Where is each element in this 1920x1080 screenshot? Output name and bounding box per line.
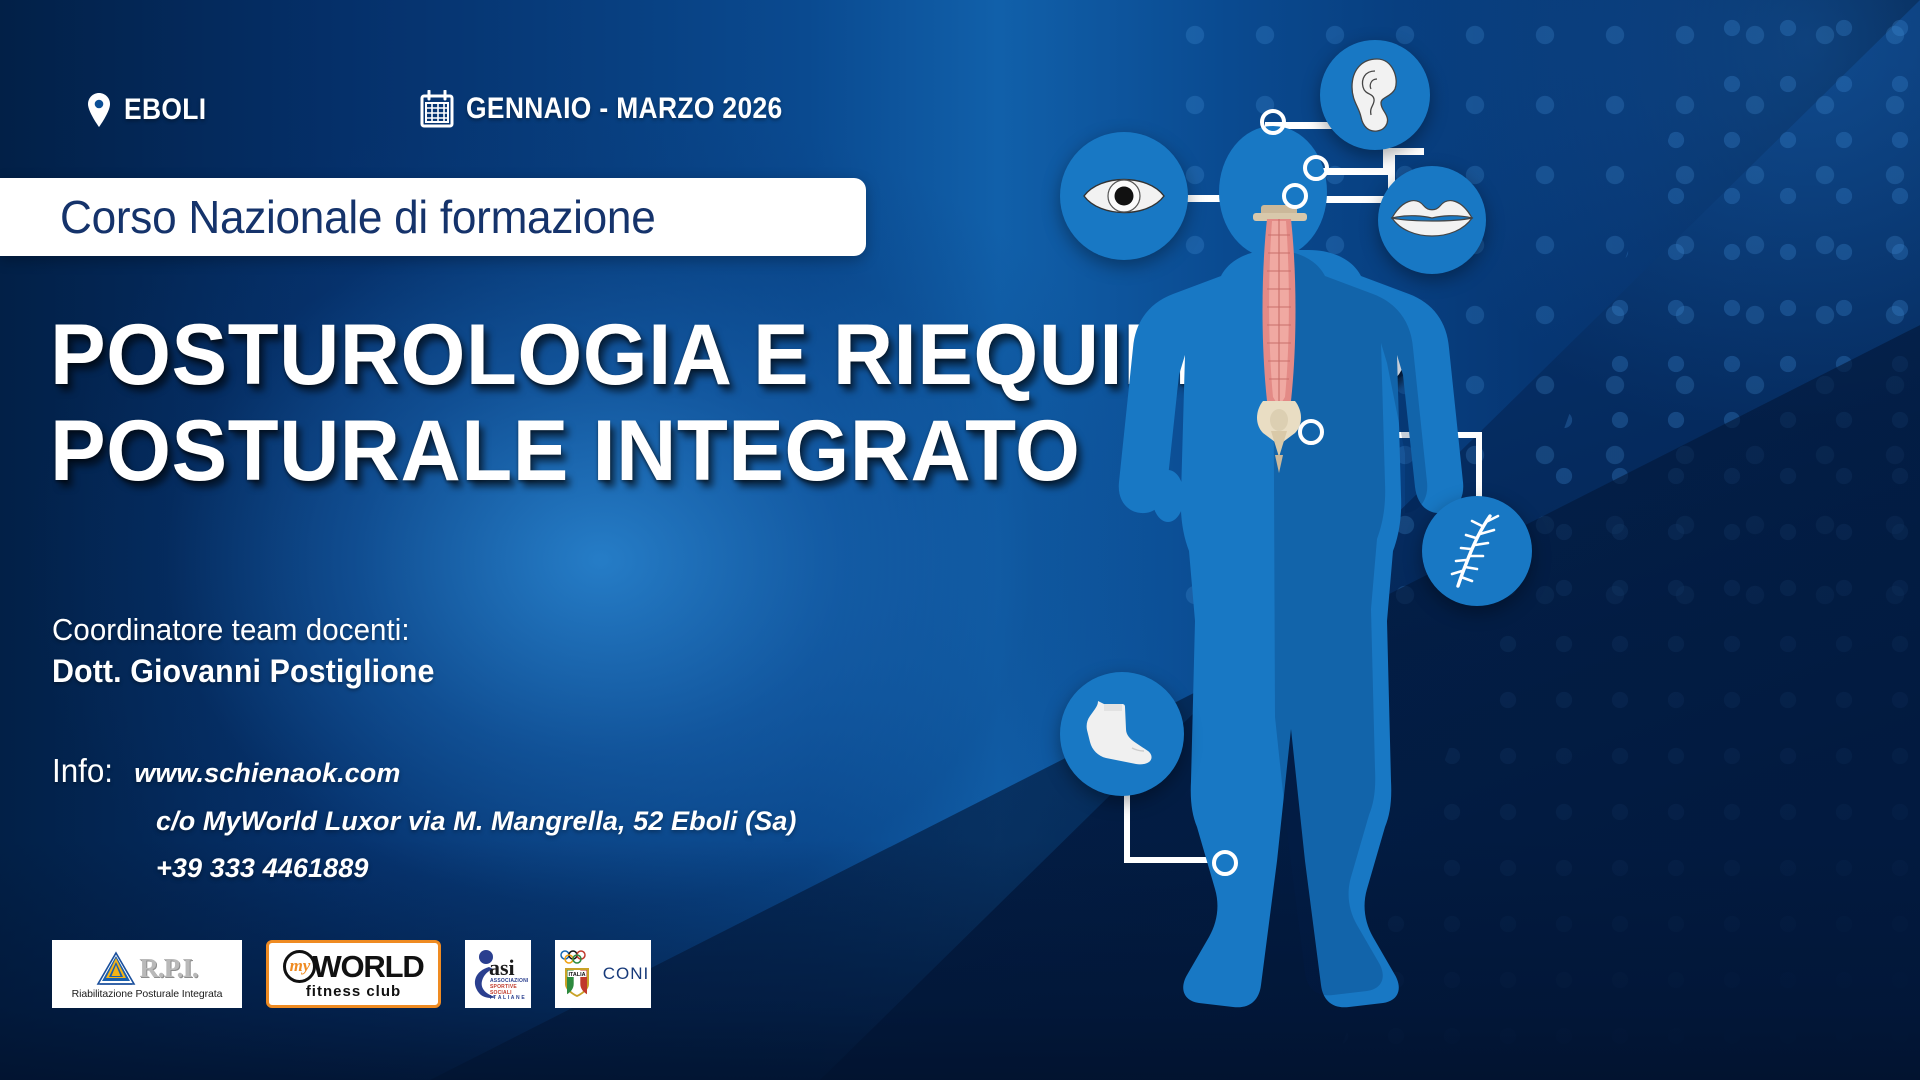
ear-icon — [1347, 57, 1403, 133]
info-label: Info: — [52, 752, 113, 790]
myworld-tagline: fitness club — [306, 984, 401, 999]
info-block: Info: www.schienaok.com c/o MyWorld Luxo… — [52, 752, 797, 884]
asi-subtext: ASSOCIAZIONI SPORTIVE SOCIALI I T A L I … — [490, 979, 526, 1002]
ear-node — [1303, 155, 1329, 181]
info-address: c/o MyWorld Luxor via M. Mangrella, 52 E… — [156, 806, 797, 836]
coordinator-block: Coordinatore team docenti: Dott. Giovann… — [52, 612, 455, 690]
ear-callout[interactable] — [1320, 40, 1430, 150]
info-website[interactable]: www.schienaok.com — [134, 758, 400, 789]
olympic-rings-icon — [557, 950, 597, 964]
eye-icon — [1080, 168, 1168, 224]
info-phone[interactable]: +39 333 4461889 — [156, 853, 368, 883]
rpi-mark: R.P.I. — [58, 949, 236, 989]
location-text: EBOLI — [124, 93, 206, 127]
rpi-caption: Riabilitazione Posturale Integrata — [72, 989, 223, 1000]
location-group: EBOLI — [86, 92, 218, 128]
mouth-callout[interactable] — [1378, 166, 1486, 274]
foot-node — [1212, 850, 1238, 876]
title-line-1: POSTUROLOGIA E RIEQUILIBRIO — [50, 312, 1136, 400]
myworld-my: my — [283, 950, 316, 983]
spine-node — [1298, 419, 1324, 445]
asi-text: asi — [489, 957, 515, 979]
info-address-row: c/o MyWorld Luxor via M. Mangrella, 52 E… — [156, 806, 797, 837]
info-website-row: Info: www.schienaok.com — [52, 752, 797, 790]
poster-header: EBOLI GENNAIO - MARZO 2026 — [0, 44, 1100, 114]
coni-logo: ITALIA CONI — [555, 940, 651, 1008]
coordinator-label: Coordinatore team docenti: — [52, 612, 434, 648]
spine-callout[interactable] — [1422, 496, 1532, 606]
myworld-wordmark: my WORLD — [283, 950, 423, 983]
mouth-icon — [1390, 194, 1474, 246]
spine-icon — [1446, 512, 1508, 590]
myworld-world: WORLD — [312, 951, 423, 982]
map-pin-icon — [86, 92, 112, 128]
rpi-logo: R.P.I. Riabilitazione Posturale Integrat… — [52, 940, 242, 1008]
poster-root: EBOLI GENNAIO - MARZO 2026 — [0, 0, 1920, 1080]
coordinator-name: Dott. Giovanni Postiglione — [52, 653, 434, 690]
anatomical-spine-icon — [1245, 205, 1315, 505]
mouth-node — [1282, 183, 1308, 209]
foot-icon — [1086, 698, 1158, 770]
body-illustration — [1020, 0, 1920, 1080]
title-line-2: POSTURALE INTEGRATO — [50, 408, 1136, 496]
subtitle-banner: Corso Nazionale di formazione — [0, 178, 866, 256]
date-text: GENNAIO - MARZO 2026 — [466, 92, 783, 126]
coni-emblem: ITALIA — [557, 950, 597, 998]
sponsor-logos: R.P.I. Riabilitazione Posturale Integrat… — [52, 940, 651, 1008]
rpi-triangle-icon — [96, 951, 136, 987]
asi-logo: asi ASSOCIAZIONI SPORTIVE SOCIALI I T A … — [465, 940, 531, 1008]
main-title: POSTUROLOGIA E RIEQUILIBRIO POSTURALE IN… — [50, 312, 1170, 495]
foot-callout[interactable] — [1060, 672, 1184, 796]
coni-text: CONI — [603, 964, 650, 984]
eye-node — [1260, 109, 1286, 135]
rpi-letters: R.P.I. — [139, 955, 197, 982]
myworld-logo: my WORLD fitness club — [266, 940, 441, 1008]
italia-shield-icon: ITALIA — [563, 966, 591, 998]
eye-callout[interactable] — [1060, 132, 1188, 260]
calendar-icon — [420, 90, 454, 128]
asi-mark: asi ASSOCIAZIONI SPORTIVE SOCIALI I T A … — [469, 947, 527, 1001]
subtitle-text: Corso Nazionale di formazione — [60, 190, 655, 244]
date-group: GENNAIO - MARZO 2026 — [420, 90, 826, 128]
info-phone-row: +39 333 4461889 — [156, 853, 797, 884]
svg-text:ITALIA: ITALIA — [568, 972, 585, 978]
